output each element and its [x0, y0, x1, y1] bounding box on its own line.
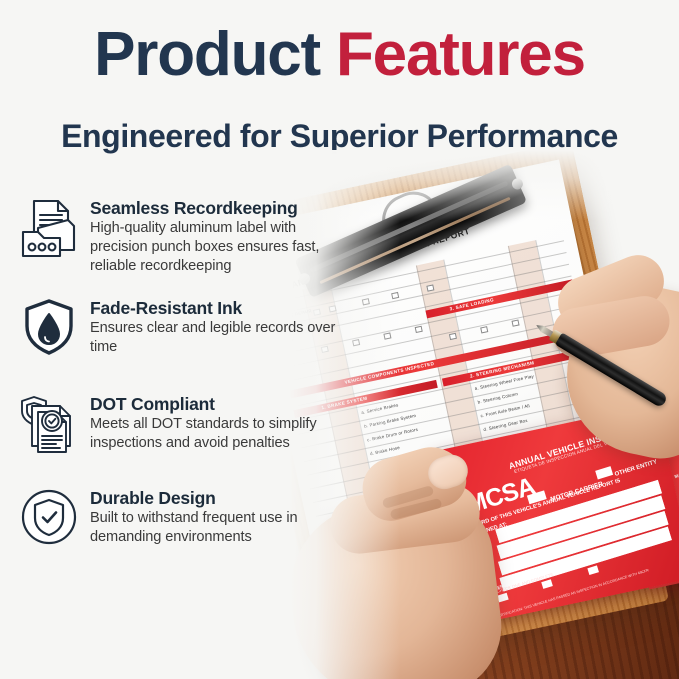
feature-title: DOT Compliant	[90, 394, 348, 414]
feature-list: Seamless Recordkeeping High-quality alum…	[18, 196, 348, 574]
feature-title: Durable Design	[90, 488, 348, 508]
feature-item-durable-design: Durable Design Built to withstand freque…	[18, 486, 348, 558]
feature-item-recordkeeping: Seamless Recordkeeping High-quality alum…	[18, 196, 348, 276]
shield-droplet-icon	[18, 296, 80, 368]
feature-title: Seamless Recordkeeping	[90, 198, 348, 218]
feature-description: Built to withstand frequent use in deman…	[90, 509, 348, 547]
certified-document-icon	[18, 392, 80, 464]
document-in-tray-icon	[18, 196, 80, 268]
page-title: Product Features	[0, 24, 679, 86]
feature-title: Fade-Resistant Ink	[90, 298, 348, 318]
infographic-canvas: Product Features Engineered for Superior…	[0, 0, 679, 679]
feature-item-dot-compliant: DOT Compliant Meets all DOT standards to…	[18, 392, 348, 464]
page-title-accent: Features	[336, 20, 585, 89]
label-option-other-entity: OTHER ENTITY	[614, 459, 658, 478]
feature-description: High-quality aluminum label with precisi…	[90, 219, 348, 276]
feature-item-fade-resistant-ink: Fade-Resistant Ink Ensures clear and leg…	[18, 296, 348, 368]
shield-check-circle-icon	[18, 486, 80, 558]
feature-description: Ensures clear and legible records over t…	[90, 319, 348, 357]
page-title-primary: Product	[94, 20, 320, 89]
feature-description: Meets all DOT standards to simplify insp…	[90, 415, 348, 453]
